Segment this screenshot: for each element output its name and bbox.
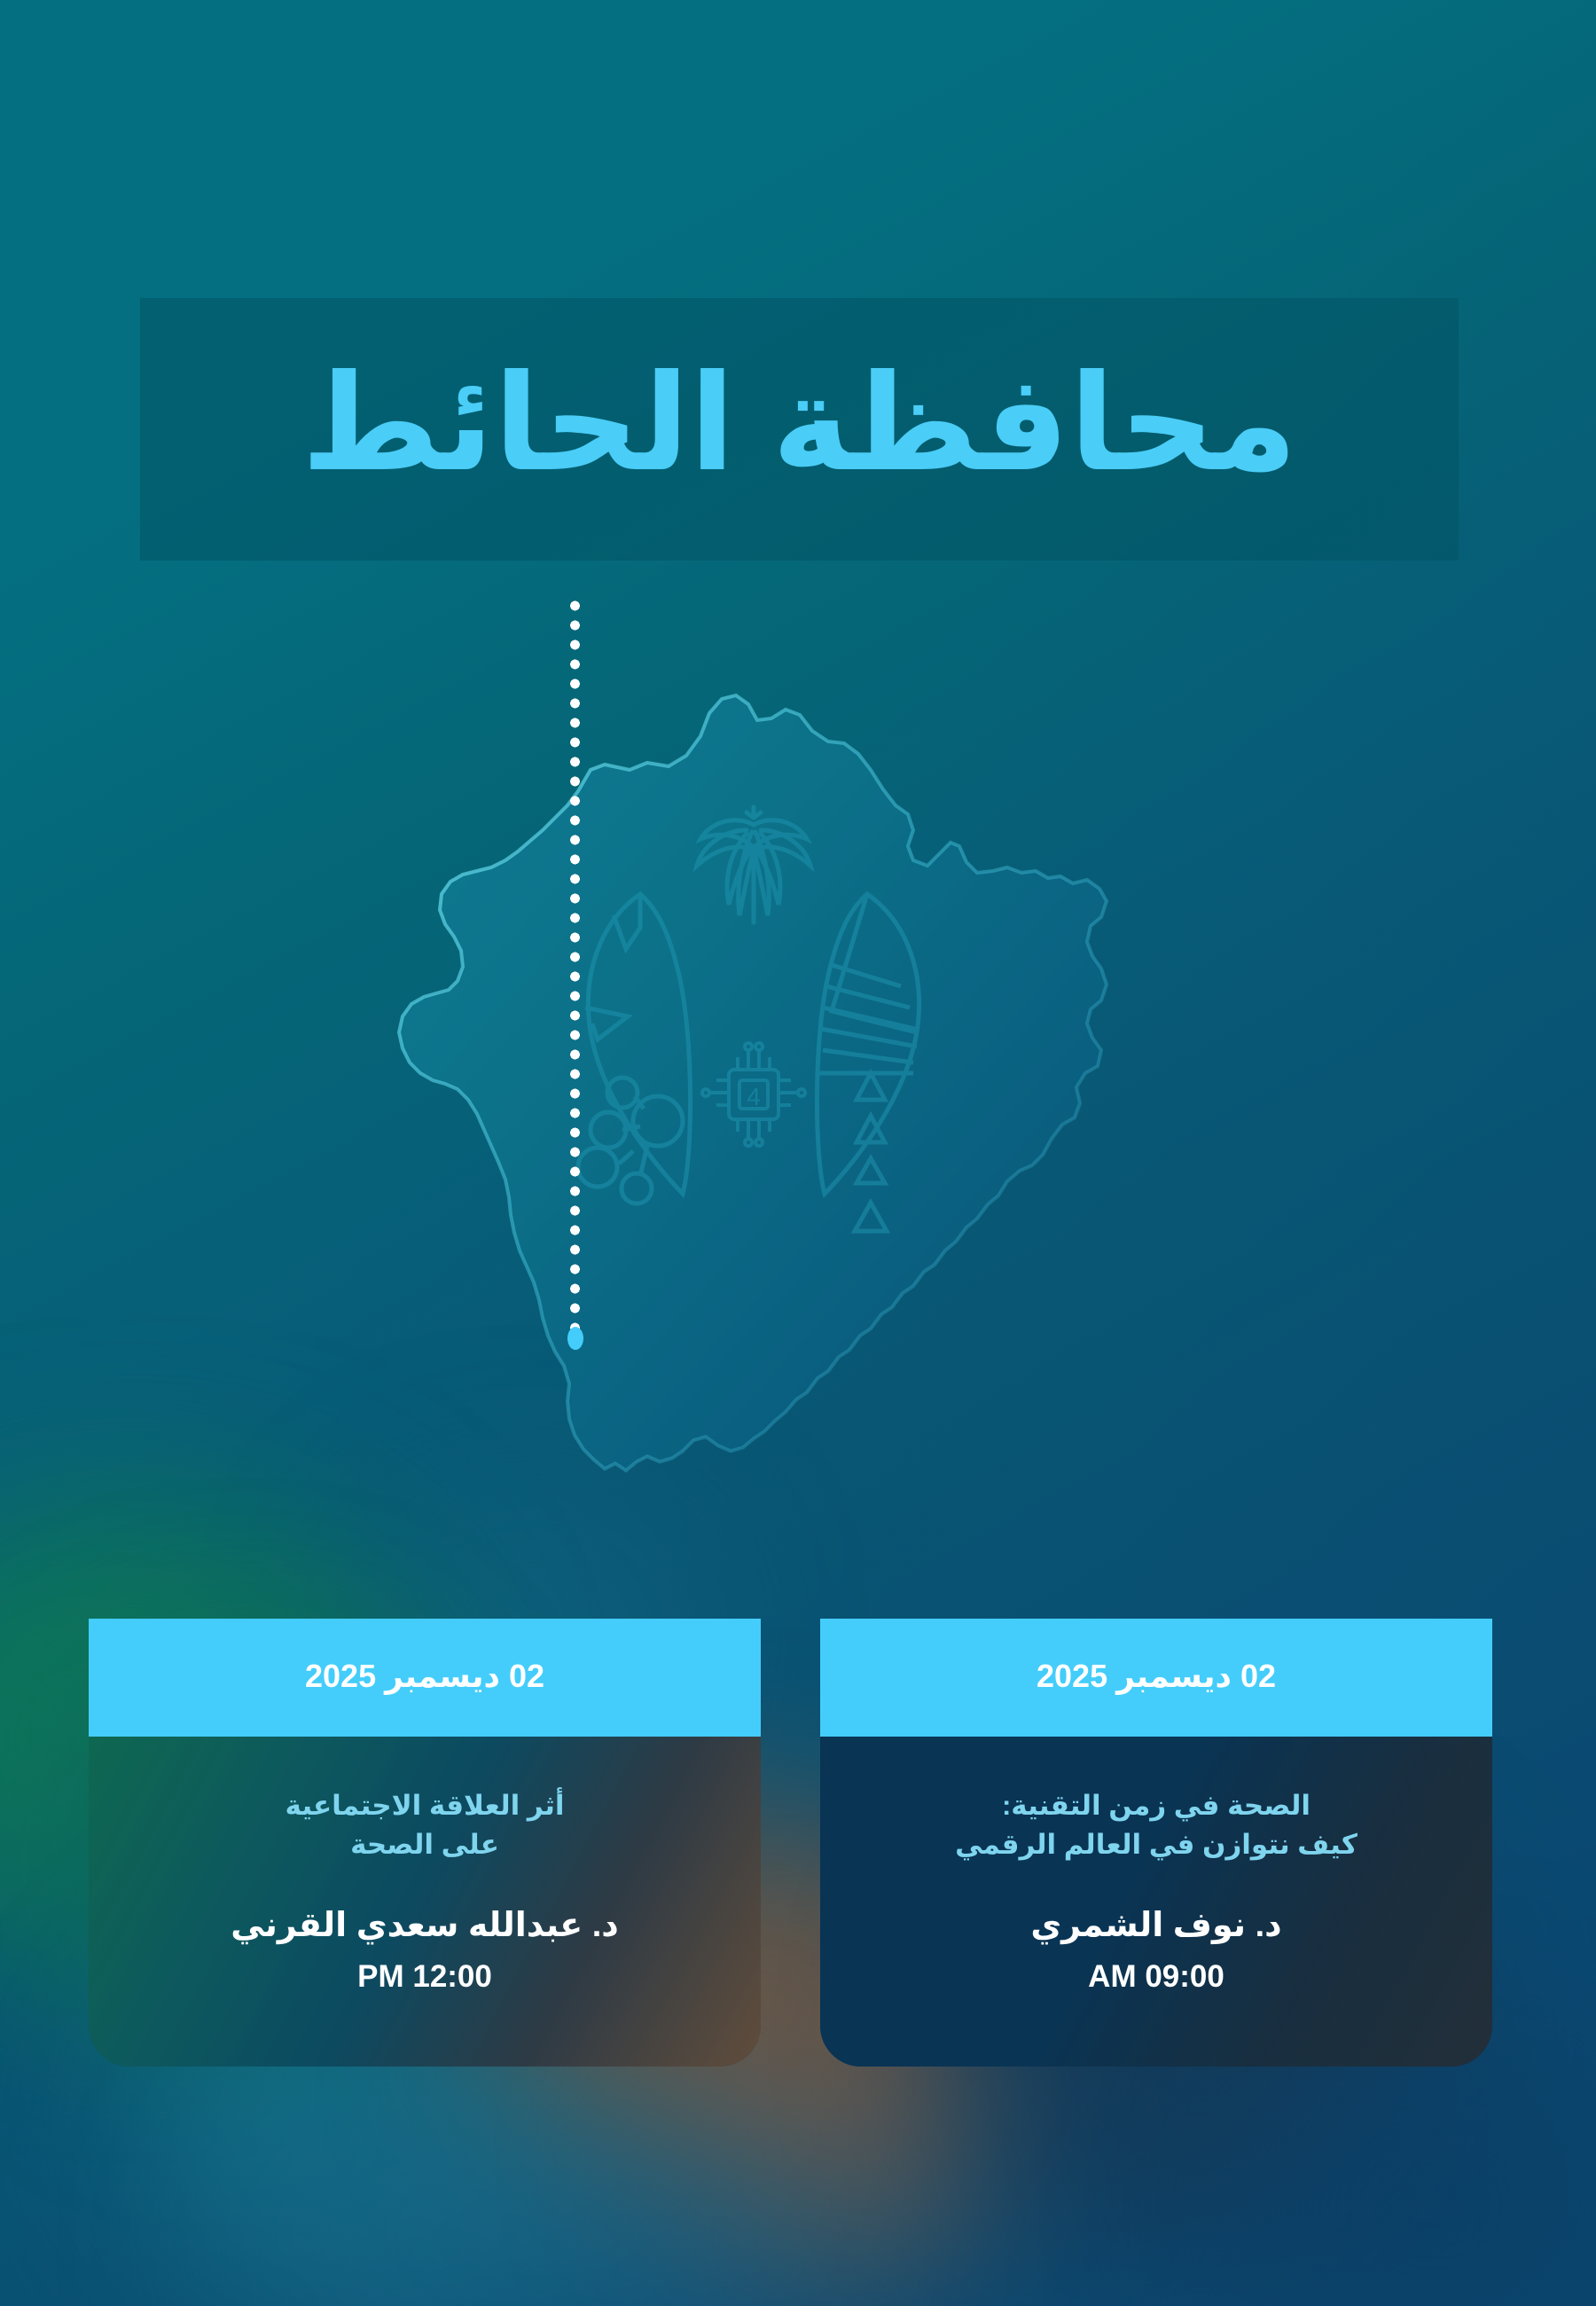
- session-card-list: 02 ديسمبر 2025 أثر العلاقة الاجتماعية عل…: [89, 1619, 1492, 2067]
- locator-dotted-line: [569, 596, 581, 1330]
- chip-label: 4: [747, 1083, 761, 1110]
- session-topic: أثر العلاقة الاجتماعية على الصحة: [286, 1786, 565, 1864]
- page-title: محافظة الحائط: [301, 354, 1297, 494]
- session-time: PM 12:00: [357, 1959, 492, 1995]
- session-time: AM 09:00: [1088, 1959, 1224, 1995]
- title-banner: محافظة الحائط: [140, 298, 1459, 561]
- session-date: 02 ديسمبر 2025: [305, 1658, 544, 1695]
- session-card[interactable]: 02 ديسمبر 2025 أثر العلاقة الاجتماعية عل…: [89, 1619, 761, 2067]
- session-card-body: أثر العلاقة الاجتماعية على الصحة د. عبدا…: [89, 1737, 761, 2067]
- session-topic: الصحة في زمن التقنية: كيف نتوازن في العا…: [955, 1786, 1357, 1864]
- session-date-banner: 02 ديسمبر 2025: [820, 1619, 1492, 1737]
- session-speaker: د. عبدالله سعدي القرني: [231, 1905, 619, 1945]
- session-date-banner: 02 ديسمبر 2025: [89, 1619, 761, 1737]
- location-dot-icon: [567, 1327, 583, 1350]
- session-card[interactable]: 02 ديسمبر 2025 الصحة في زمن التقنية: كيف…: [820, 1619, 1492, 2067]
- map-locator: [567, 596, 583, 1359]
- session-date: 02 ديسمبر 2025: [1037, 1658, 1276, 1695]
- session-card-body: الصحة في زمن التقنية: كيف نتوازن في العا…: [820, 1737, 1492, 2067]
- poster-root: محافظة الحائط: [0, 0, 1596, 2306]
- session-speaker: د. نوف الشمري: [1030, 1905, 1281, 1945]
- region-map: 4: [293, 656, 1286, 1508]
